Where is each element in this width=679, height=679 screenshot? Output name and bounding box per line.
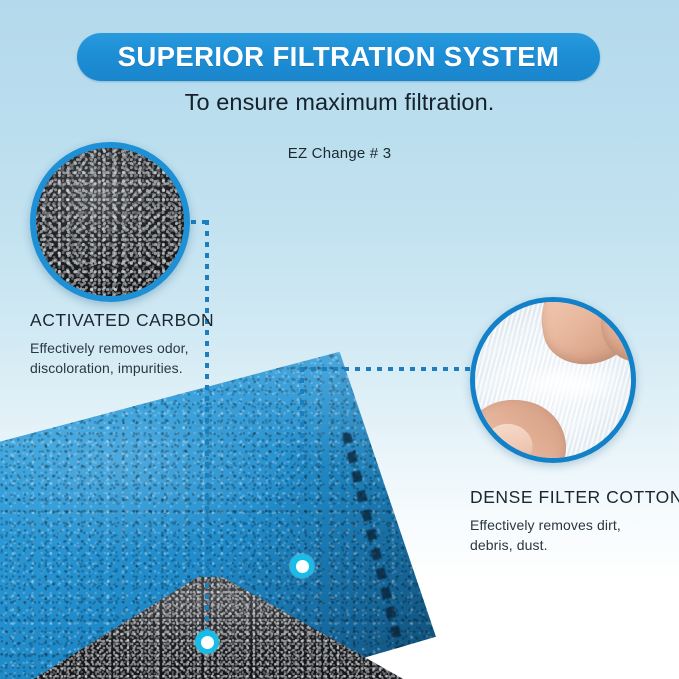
- dense-filter-cotton-description-line2: debris, dust.: [470, 535, 679, 555]
- page-title: SUPERIOR FILTRATION SYSTEM: [118, 41, 560, 73]
- carbon-marker-dot-icon: [195, 630, 219, 654]
- activated-carbon-title: ACTIVATED CARBON: [30, 310, 214, 331]
- title-banner: SUPERIOR FILTRATION SYSTEM: [77, 33, 600, 81]
- activated-carbon-description-line1: Effectively removes odor,: [30, 338, 214, 358]
- filter-cotton-photo-icon: [470, 297, 636, 463]
- infographic-canvas: SUPERIOR FILTRATION SYSTEM To ensure max…: [0, 0, 679, 679]
- cotton-connector-horizontal: [300, 367, 472, 371]
- activated-carbon-description-line2: discoloration, impurities.: [30, 358, 214, 378]
- page-subtitle: To ensure maximum filtration.: [0, 89, 679, 116]
- carbon-connector-vertical: [205, 220, 209, 632]
- activated-carbon-label-block: ACTIVATED CARBON Effectively removes odo…: [30, 310, 214, 379]
- cotton-marker-dot-icon: [290, 554, 314, 578]
- dense-filter-cotton-description-line1: Effectively removes dirt,: [470, 515, 679, 535]
- activated-carbon-photo-icon: [30, 142, 190, 302]
- cotton-connector-vertical: [300, 367, 304, 559]
- carbon-connector-horizontal: [191, 220, 213, 224]
- activated-carbon-granule-texture: [30, 142, 190, 302]
- dense-filter-cotton-title: DENSE FILTER COTTON: [470, 487, 679, 508]
- dense-filter-cotton-label-block: DENSE FILTER COTTON Effectively removes …: [470, 487, 679, 556]
